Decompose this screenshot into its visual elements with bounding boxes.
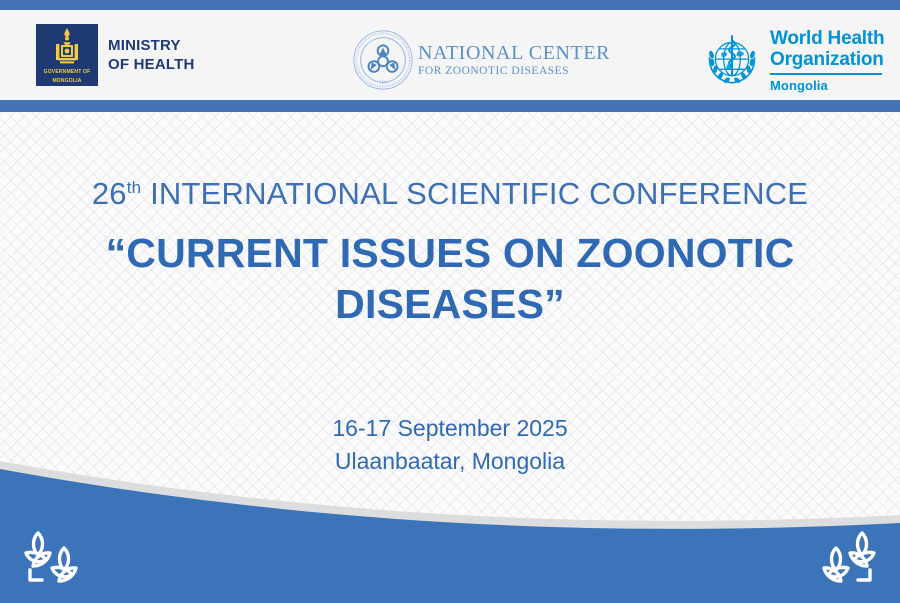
svg-text:1931: 1931 [379, 80, 388, 85]
page-title: “CURRENT ISSUES ON ZOONOTIC DISEASES” [62, 228, 838, 330]
national-center-name-line1: NATIONAL CENTER [418, 42, 610, 64]
conference-edition-text: INTERNATIONAL SCIENTIFIC CONFERENCE [141, 176, 808, 211]
conference-edition-line: 26th INTERNATIONAL SCIENTIFIC CONFERENCE [0, 176, 900, 212]
who-wordmark: World Health Organization Mongolia [770, 28, 884, 93]
ministry-name-line2: OF HEALTH [108, 55, 195, 74]
who-name-line2: Organization [770, 49, 884, 70]
page-title-line1: “CURRENT ISSUES ON ZOONOTIC [62, 228, 838, 279]
bottom-wave-decoration [0, 443, 900, 603]
mongolia-government-emblem: GOVERNMENT OF MONGOLIA [36, 24, 98, 86]
ministry-name-line1: MINISTRY [108, 36, 195, 55]
conference-number: 26 [92, 176, 127, 211]
mongolia-soyombo-emblem-icon [52, 27, 82, 67]
national-center-name-line2: FOR ZOONOTIC DISEASES [418, 64, 610, 78]
biohazard-seal-icon: 1931 [352, 29, 414, 91]
who-name-line1: World Health [770, 28, 884, 49]
emblem-caption-line1: GOVERNMENT OF [44, 69, 91, 76]
top-accent-bar [0, 0, 900, 10]
mongolian-ulzii-knot-ornament-icon [807, 525, 883, 585]
national-center-zoonotic-diseases-logo: 1931 NATIONAL CENTER FOR ZOONOTIC DISEAS… [352, 29, 610, 91]
who-mongolia-logo: World Health Organization Mongolia [700, 28, 884, 93]
who-divider [770, 73, 882, 75]
mongolian-ulzii-knot-ornament-icon [17, 525, 93, 585]
ministry-of-health-name: MINISTRY OF HEALTH [108, 36, 195, 74]
conference-number-suffix: th [127, 178, 142, 197]
emblem-caption-line2: MONGOLIA [52, 78, 81, 85]
conference-dates: 16-17 September 2025 [0, 412, 900, 445]
partner-logos-row: GOVERNMENT OF MONGOLIA MINISTRY OF HEALT… [0, 10, 900, 100]
conference-title-slide: GOVERNMENT OF MONGOLIA MINISTRY OF HEALT… [0, 0, 900, 603]
header-accent-bar [0, 100, 900, 112]
who-country-label: Mongolia [770, 78, 884, 93]
who-un-laurel-asclepius-emblem-icon [700, 29, 764, 93]
page-title-line2: DISEASES” [62, 279, 838, 330]
ministry-of-health-logo: GOVERNMENT OF MONGOLIA MINISTRY OF HEALT… [36, 24, 195, 86]
national-center-name: NATIONAL CENTER FOR ZOONOTIC DISEASES [418, 42, 610, 78]
